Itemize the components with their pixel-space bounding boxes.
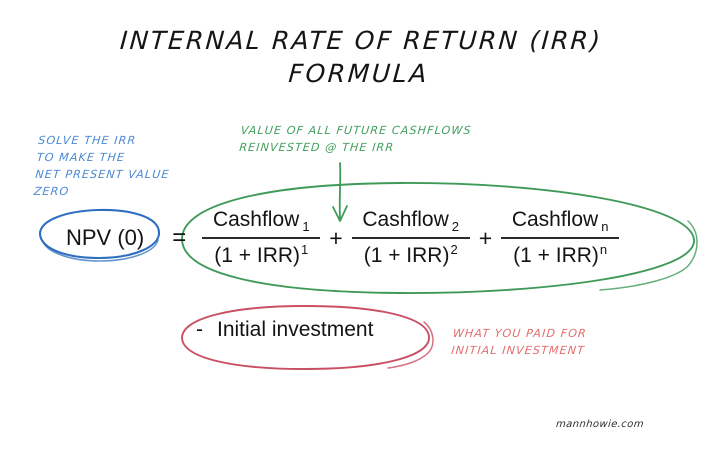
annotation-green-cashflows: VALUE OF ALL FUTURE CASHFLOWS REINVESTED… (239, 122, 473, 156)
annotation-red-initial-investment: WHAT YOU PAID FOR INITIAL INVESTMENT (451, 325, 588, 359)
cashflow-term-2-numerator: Cashflow2 (356, 208, 465, 234)
equals-sign: = (172, 224, 186, 252)
irr-equation: NPV (0) = Cashflow1 (1 + IRR)1 + Cashflo… (52, 196, 623, 280)
annotation-blue-line-2: TO MAKE THE (36, 149, 172, 166)
cashflow-term-1-denominator-text: (1 + IRR) (214, 244, 300, 267)
cashflow-term-2-denominator-text: (1 + IRR) (364, 244, 450, 267)
cashflow-term-n-numerator: Cashflown (506, 208, 615, 234)
annotation-green-line-1: VALUE OF ALL FUTURE CASHFLOWS (240, 122, 472, 139)
watermark: mannhowie.com (555, 419, 644, 430)
page-title: INTERNAL RATE OF RETURN (IRR) FORMULA (0, 24, 720, 90)
npv-term: NPV (0) (52, 225, 158, 251)
irr-formula-infographic: INTERNAL RATE OF RETURN (IRR) FORMULA SO… (0, 0, 720, 466)
cashflow-term-1-bar (202, 237, 320, 240)
cashflow-term-n: Cashflown (1 + IRR)n (497, 208, 623, 269)
cashflow-term-n-denominator-text: (1 + IRR) (513, 244, 599, 267)
cashflow-term-n-bar (501, 237, 619, 240)
page-title-line-2: FORMULA (0, 57, 720, 90)
cashflow-term-1-denominator: (1 + IRR)1 (208, 242, 314, 268)
cashflow-term-2: Cashflow2 (1 + IRR)2 (348, 208, 474, 269)
page-title-line-1: INTERNAL RATE OF RETURN (IRR) (0, 24, 720, 57)
initial-investment-term: -Initial investment (196, 318, 373, 342)
cashflow-term-2-exponent: 2 (449, 242, 457, 257)
cashflow-term-1: Cashflow1 (1 + IRR)1 (198, 208, 324, 269)
annotation-red-line-2: INITIAL INVESTMENT (451, 342, 587, 359)
cashflow-term-1-numerator: Cashflow1 (207, 208, 316, 234)
annotation-blue-line-3: NET PRESENT VALUE (35, 166, 171, 183)
plus-sign-2: + (479, 225, 492, 252)
cashflow-term-1-subscript: 1 (299, 219, 309, 234)
annotation-red-line-1: WHAT YOU PAID FOR (452, 325, 588, 342)
cashflow-term-2-denominator: (1 + IRR)2 (358, 242, 464, 268)
cashflow-term-n-denominator: (1 + IRR)n (507, 242, 613, 268)
initial-investment-label: Initial investment (217, 318, 373, 341)
cashflow-term-2-subscript: 2 (449, 219, 459, 234)
cashflow-term-n-exponent: n (599, 242, 607, 257)
cashflow-term-n-numerator-text: Cashflow (512, 208, 598, 231)
minus-sign: - (196, 318, 217, 341)
cashflow-term-1-exponent: 1 (300, 242, 308, 257)
annotation-blue-npv: SOLVE THE IRR TO MAKE THE NET PRESENT VA… (33, 132, 173, 200)
annotation-blue-line-1: SOLVE THE IRR (37, 132, 173, 149)
plus-sign-1: + (329, 225, 342, 252)
annotation-green-line-2: REINVESTED @ THE IRR (239, 139, 471, 156)
cashflow-term-2-bar (352, 237, 470, 240)
cashflow-term-2-numerator-text: Cashflow (362, 208, 448, 231)
cashflow-term-1-numerator-text: Cashflow (213, 208, 299, 231)
cashflow-term-n-subscript: n (598, 219, 608, 234)
